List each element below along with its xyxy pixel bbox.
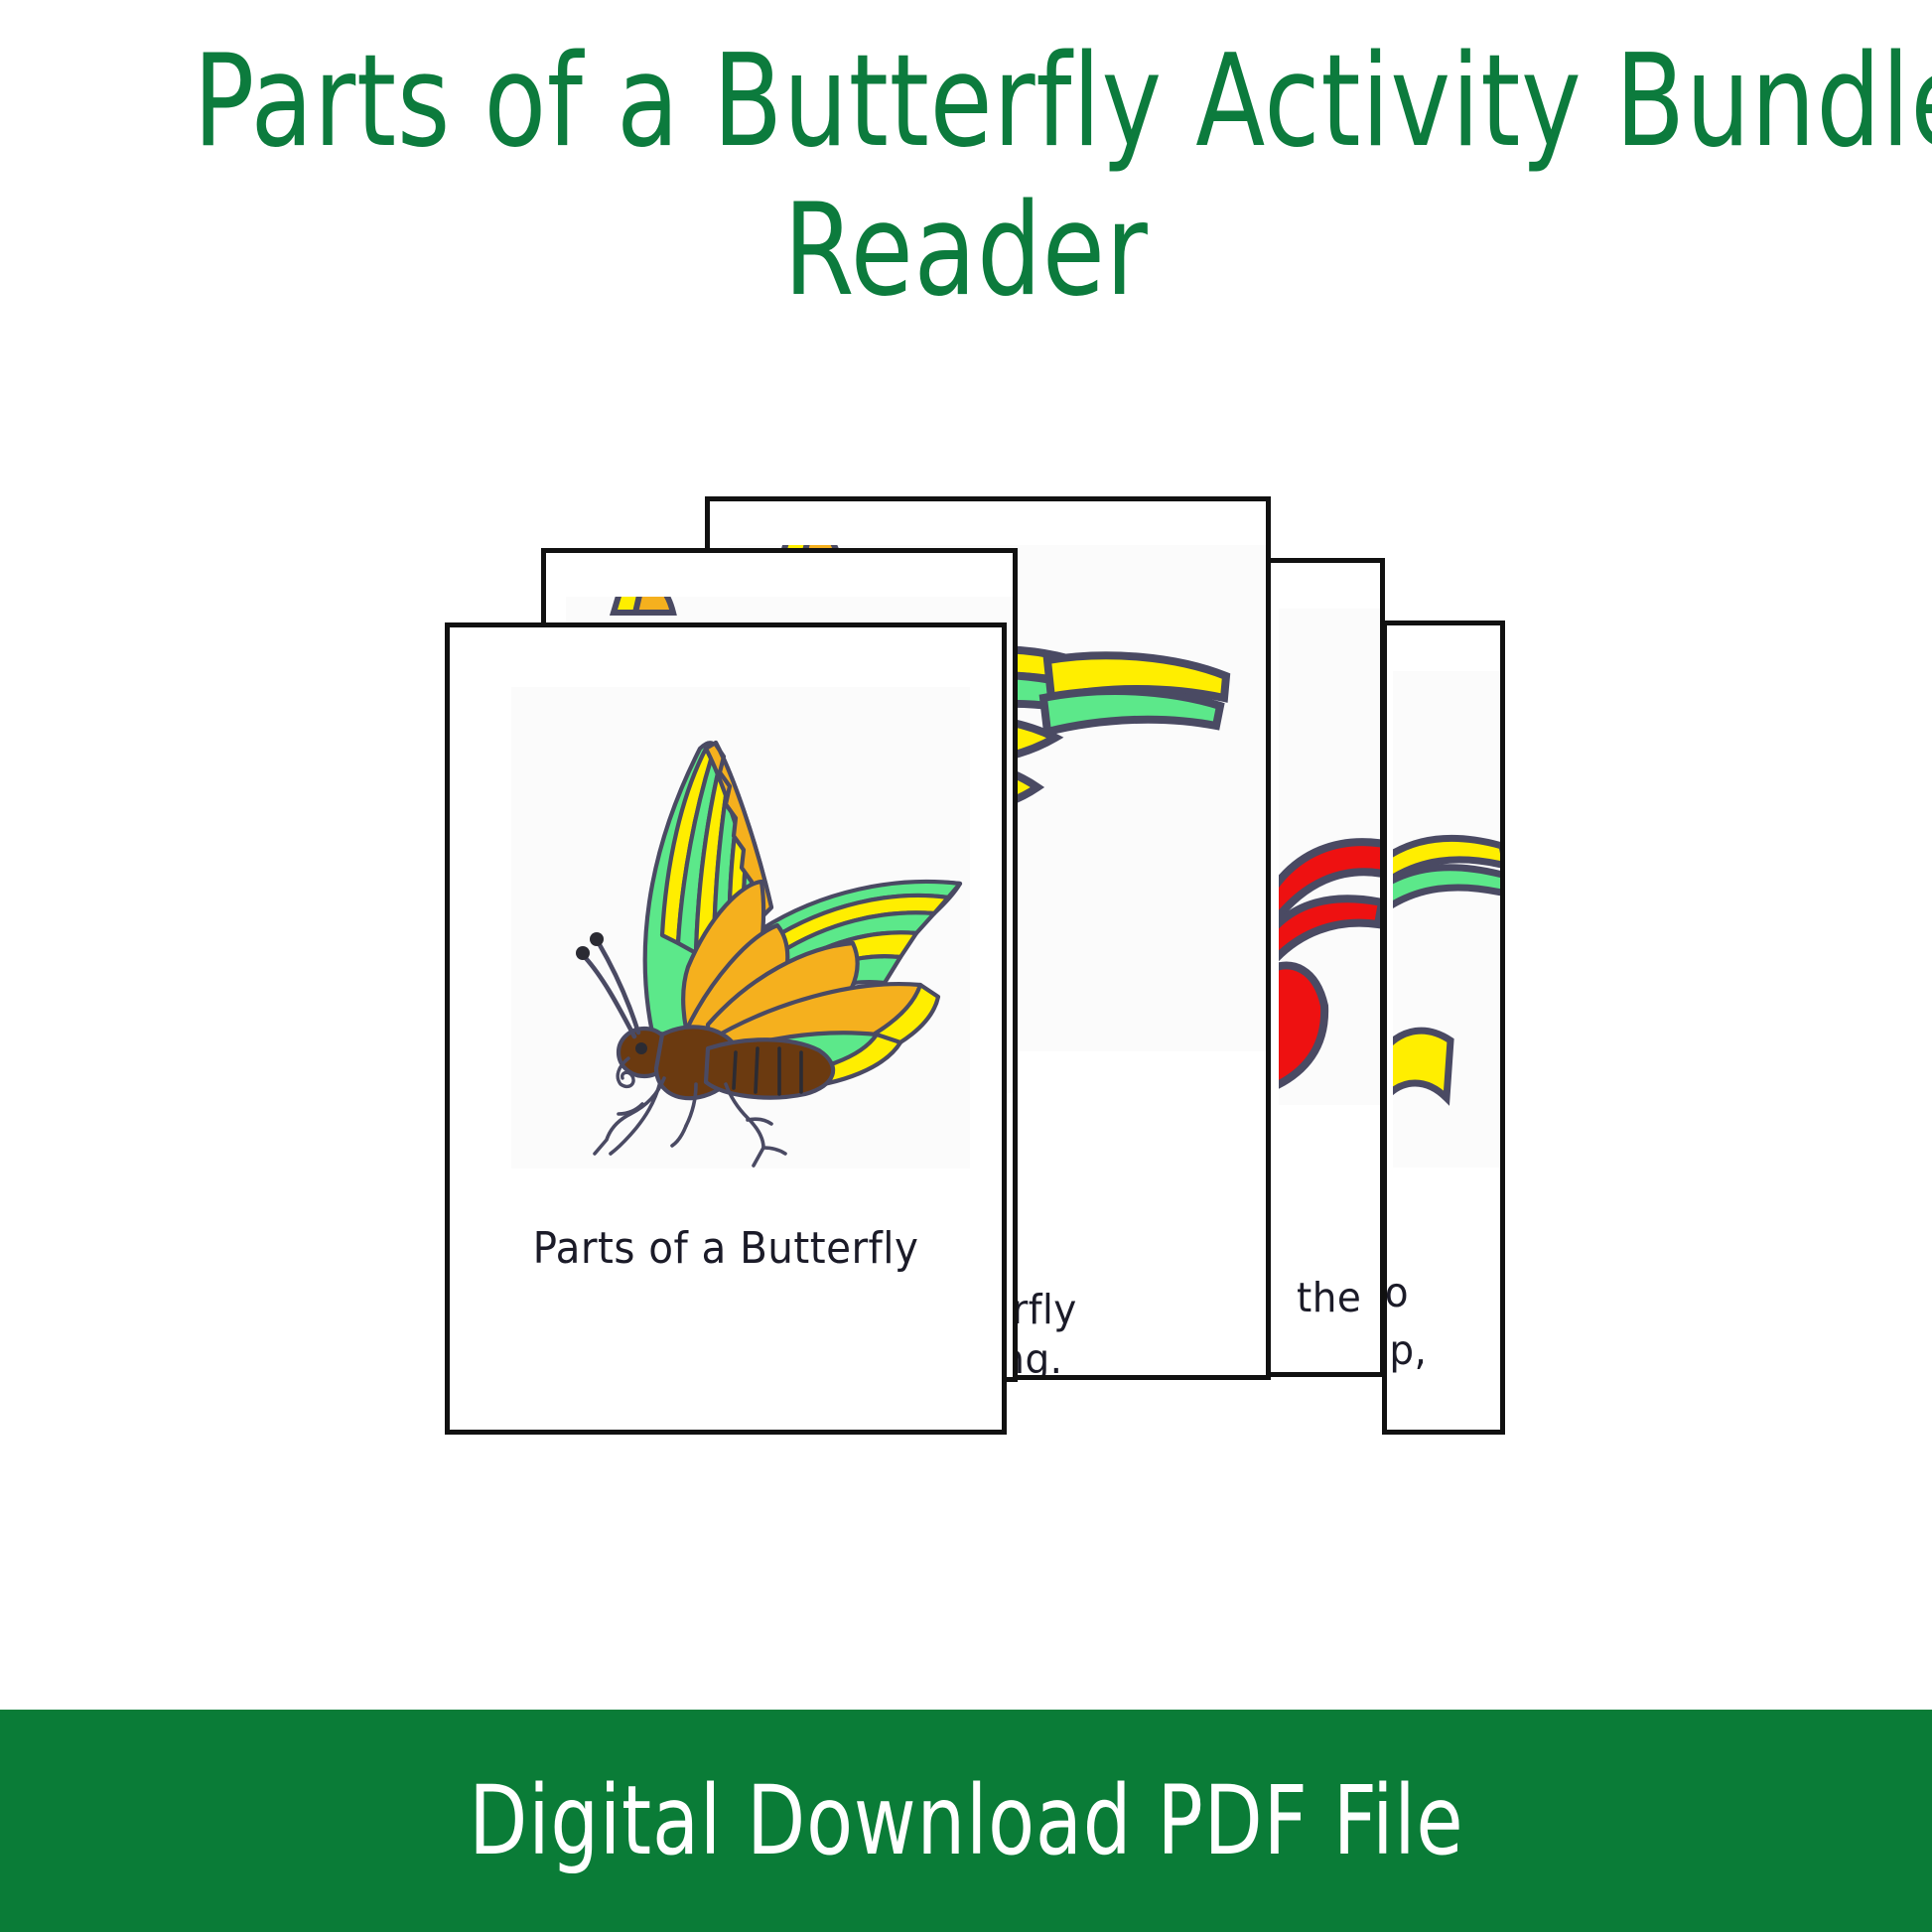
butterfly-illustration-icon	[511, 687, 970, 1169]
preview-page-1: Parts of a Butterfly	[445, 622, 1007, 1435]
preview-page-5-artwork-plate	[1393, 671, 1505, 1168]
butterfly-wing-fragment-icon	[1393, 671, 1505, 1168]
footer-banner-text: Digital Download PDF File	[469, 1765, 1463, 1876]
preview-page-1-artwork-plate	[511, 687, 970, 1169]
document-preview-stack: to ap, the	[0, 0, 1932, 1932]
preview-page-5-text-fragment-2: ap,	[1382, 1326, 1427, 1374]
footer-banner: Digital Download PDF File	[0, 1710, 1932, 1932]
preview-page-4-text-fragment-1: the	[1297, 1274, 1361, 1321]
preview-page-1-caption: Parts of a Butterfly	[472, 1223, 980, 1274]
preview-page-4: the	[1266, 558, 1385, 1377]
preview-page-4-artwork-plate	[1279, 609, 1385, 1105]
preview-page-5-text-fragment-1: to	[1382, 1269, 1409, 1316]
butterfly-wing-fragment-red-icon	[1279, 609, 1385, 1105]
preview-page-5: to ap,	[1382, 621, 1505, 1435]
